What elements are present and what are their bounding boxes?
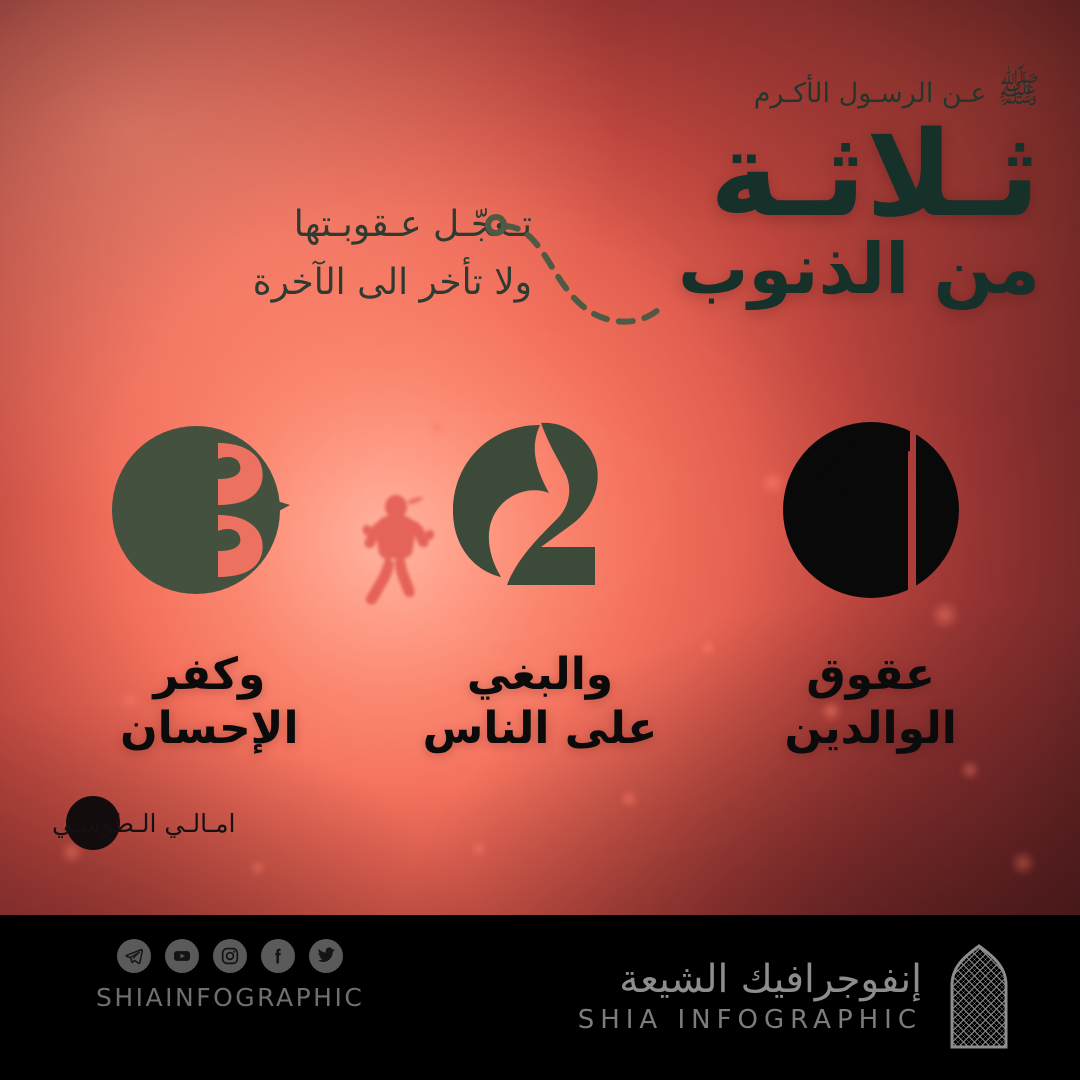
- social-links[interactable]: [117, 939, 343, 973]
- mosque-arch-logo-icon: [936, 943, 1022, 1051]
- facebook-icon[interactable]: [261, 939, 295, 973]
- numeral-one-icon: [780, 420, 962, 600]
- brand-logo: إنفوجرافيك الشيعة SHIA INFOGRAPHIC: [578, 943, 1022, 1051]
- brand-text: إنفوجرافيك الشيعة SHIA INFOGRAPHIC: [578, 959, 922, 1036]
- item-label: وكفر الإحسان: [120, 648, 298, 755]
- item-label-line-1: وكفر: [120, 648, 298, 702]
- brand-arabic: إنفوجرافيك الشيعة: [578, 959, 922, 1002]
- item-label-line-1: والبغي: [423, 648, 658, 702]
- item-label-line-2: الوالدين: [785, 702, 957, 756]
- brand-english: SHIA INFOGRAPHIC: [578, 1005, 922, 1035]
- youtube-icon[interactable]: [165, 939, 199, 973]
- item-label-line-2: على الناس: [423, 702, 658, 756]
- sins-list: عقوق الوالدين والبغي على الناس: [0, 420, 1080, 755]
- numeral-three-icon: [114, 420, 304, 600]
- sallallahu-honorific-icon: ﷺ: [997, 73, 1041, 109]
- footer-bar: SHIAINFOGRAPHIC: [0, 915, 1080, 1080]
- item-label: والبغي على الناس: [423, 648, 658, 755]
- reference-text: امـالـي الـطوسـي: [52, 809, 241, 838]
- title-line-1: ثـلاثـة: [678, 118, 1040, 231]
- source-reference: امـالـي الـطوسـي: [52, 796, 241, 850]
- dashed-arrow-connector: [480, 198, 670, 348]
- footer-social-block: SHIAINFOGRAPHIC: [96, 939, 364, 1012]
- page-title: ثـلاثـة من الذنوب: [678, 118, 1040, 307]
- numeral-two-icon: [445, 420, 635, 600]
- infographic-canvas: ﷺ عـن الرسـول الأكـرم ثـلاثـة من الذنوب …: [0, 0, 1080, 1080]
- list-item: عقوق الوالدين: [705, 420, 1036, 755]
- instagram-icon[interactable]: [213, 939, 247, 973]
- social-handle: SHIAINFOGRAPHIC: [96, 983, 364, 1012]
- item-label: عقوق الوالدين: [785, 648, 957, 755]
- list-item: والبغي على الناس: [375, 420, 706, 755]
- item-label-line-2: الإحسان: [120, 702, 298, 756]
- telegram-icon[interactable]: [117, 939, 151, 973]
- item-label-line-1: عقوق: [785, 648, 957, 702]
- twitter-icon[interactable]: [309, 939, 343, 973]
- list-item: وكفر الإحسان: [44, 420, 375, 755]
- title-line-2: من الذنوب: [678, 233, 1040, 307]
